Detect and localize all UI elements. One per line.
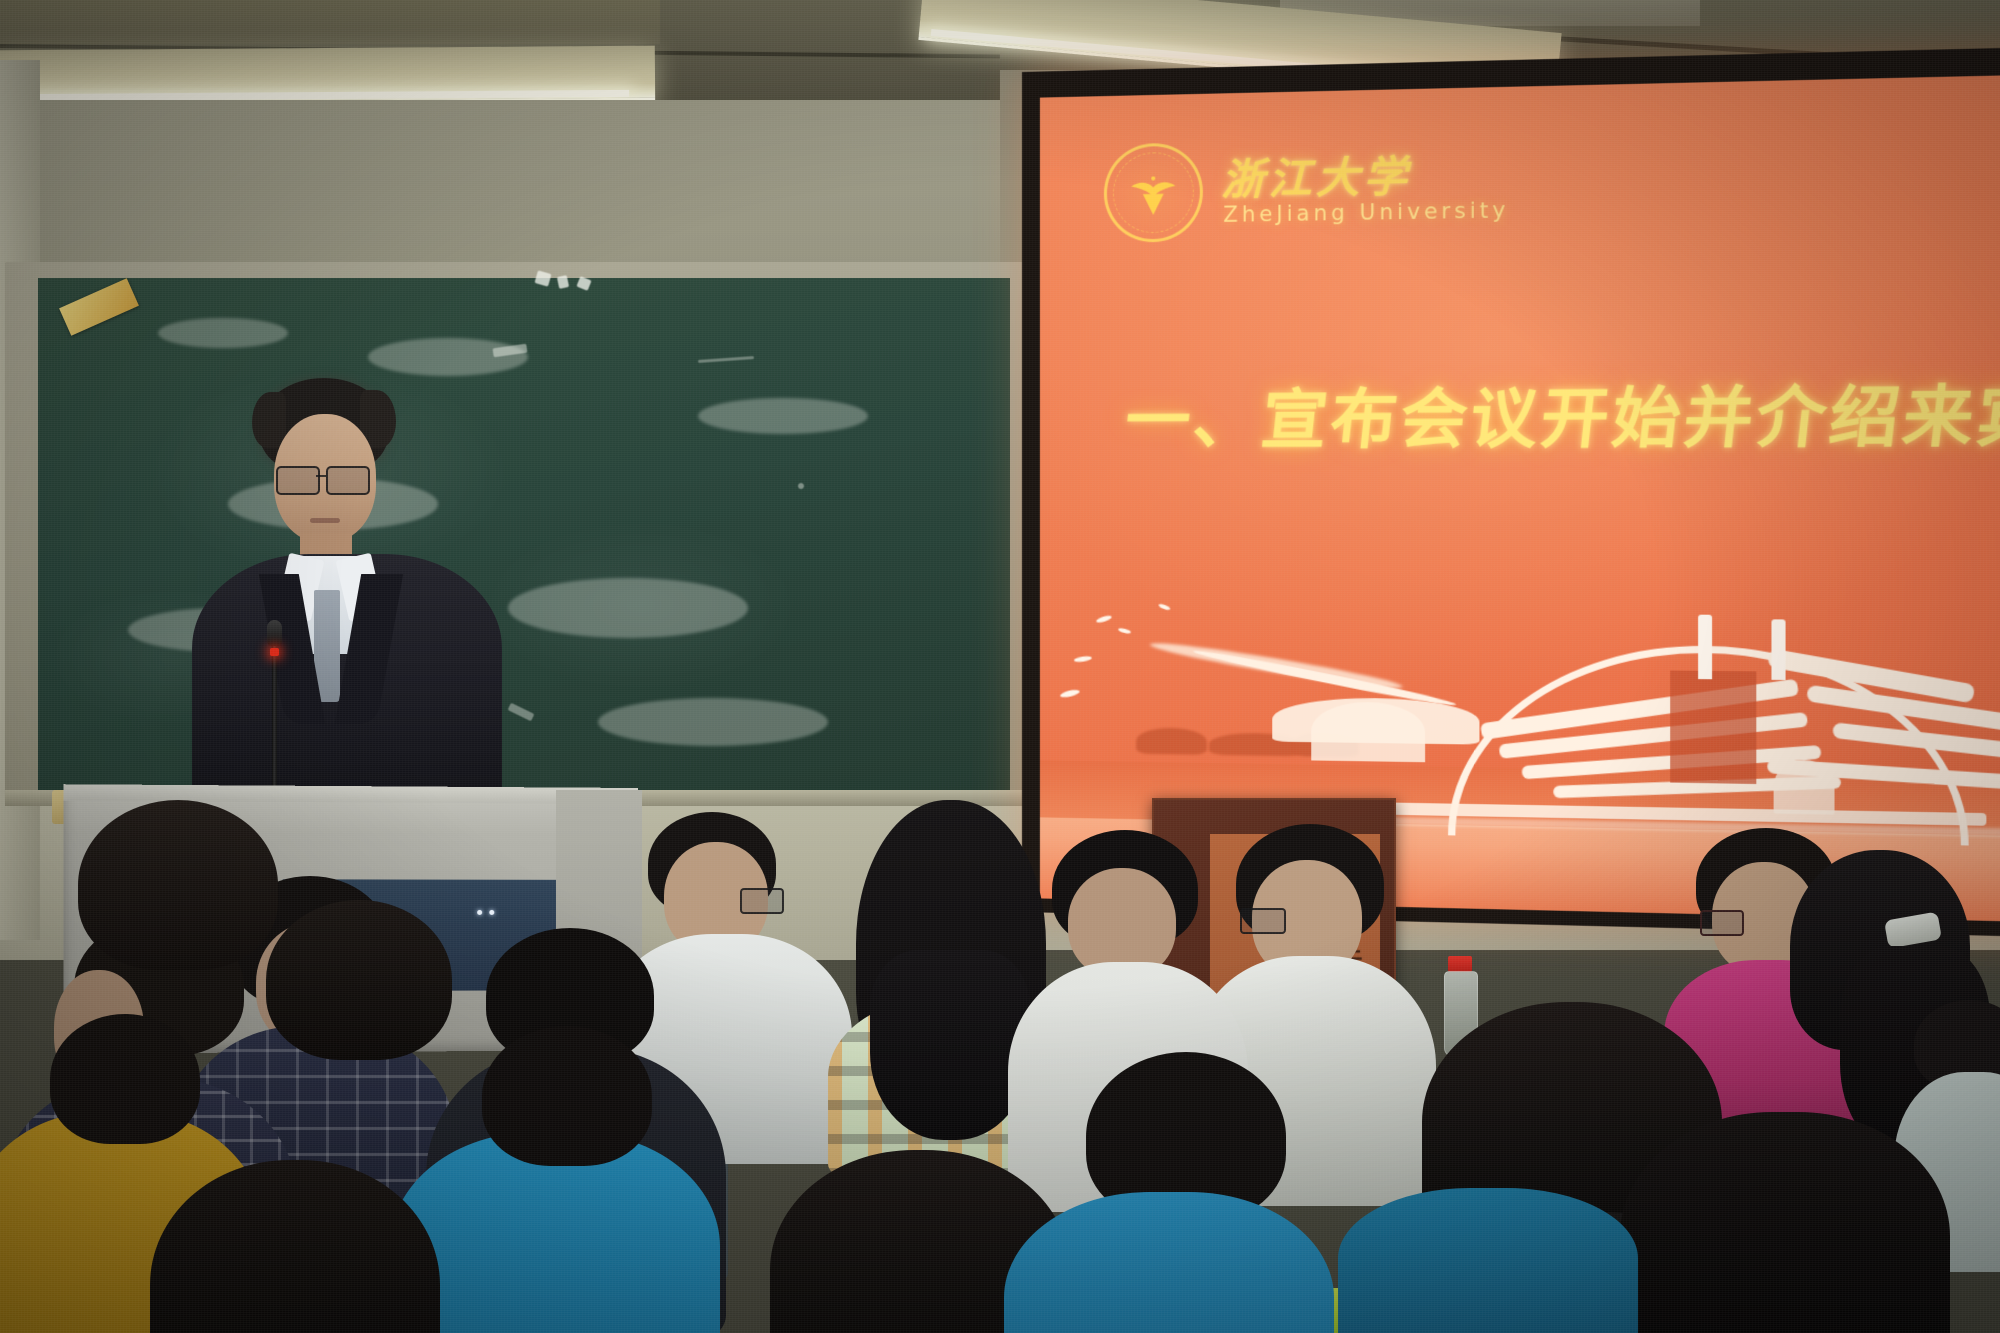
presenter-glasses-right-lens bbox=[326, 466, 370, 495]
lecture-hall-photo: Conference opening at Zhejiang Universit… bbox=[0, 0, 2000, 1333]
projection-screen[interactable]: 浙江大学 ZheJiang University 一、宣布会议开始并介绍来宾 bbox=[1040, 74, 2000, 922]
bottle-cap bbox=[1448, 956, 1472, 972]
glasses-icon bbox=[1700, 910, 1744, 936]
ceiling-tile bbox=[0, 0, 660, 44]
university-name-cn: 浙江大学 bbox=[1221, 142, 1411, 208]
presenter bbox=[200, 378, 500, 798]
presenter-glasses-bridge bbox=[316, 475, 326, 477]
microphone-head bbox=[267, 620, 282, 646]
glasses-icon bbox=[740, 888, 784, 914]
lectern-top-edge bbox=[63, 784, 638, 804]
university-name-en: ZheJiang University bbox=[1223, 198, 1509, 227]
glasses-icon bbox=[1240, 908, 1286, 934]
zhejiang-university-seal-icon bbox=[1104, 142, 1203, 242]
mic-active-led bbox=[270, 648, 279, 656]
ceiling-light-left bbox=[0, 46, 655, 106]
slide-title: 一、宣布会议开始并介绍来宾 bbox=[1121, 363, 2000, 462]
presenter-glasses-left-lens bbox=[276, 466, 320, 495]
seal-phoenix-glyph bbox=[1121, 160, 1186, 226]
blackboard bbox=[38, 278, 1010, 790]
